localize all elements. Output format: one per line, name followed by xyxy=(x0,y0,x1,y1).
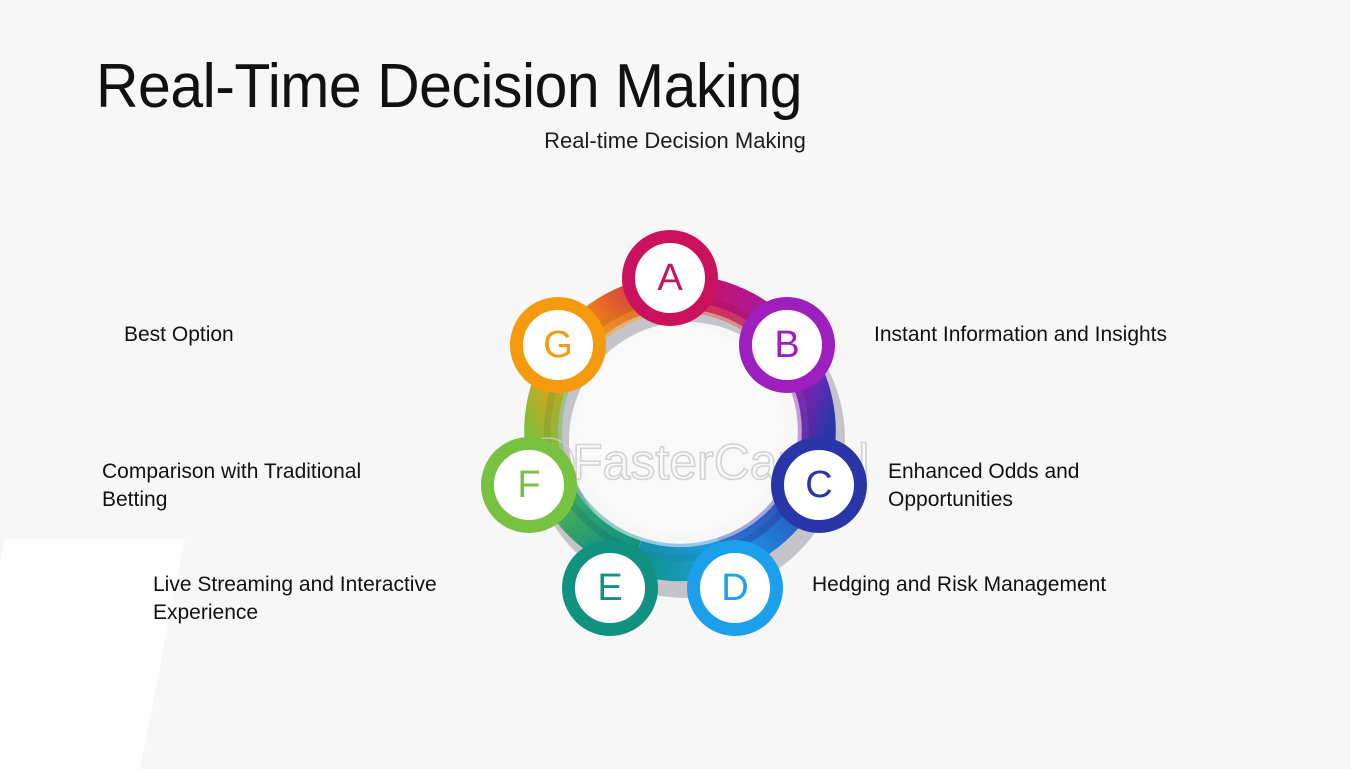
slide-canvas: Real-Time Decision Making Real-time Deci… xyxy=(0,0,1350,759)
node-g[interactable]: G xyxy=(510,297,606,393)
label-node-f: Comparison with Traditional Betting xyxy=(102,458,442,514)
label-node-c-line2: Opportunities xyxy=(888,486,1188,514)
label-node-f-line2: Betting xyxy=(102,486,442,514)
node-d-letter: D xyxy=(721,569,748,607)
label-node-c: Enhanced Odds and Opportunities xyxy=(888,458,1188,514)
node-f-letter: F xyxy=(517,466,540,504)
label-node-d: Hedging and Risk Management xyxy=(812,571,1212,599)
label-node-g: Best Option xyxy=(124,321,374,349)
node-b[interactable]: B xyxy=(739,297,835,393)
label-node-d-text: Hedging and Risk Management xyxy=(812,573,1106,596)
node-a-letter: A xyxy=(657,259,682,297)
label-node-e-line2: Experience xyxy=(153,599,513,627)
node-c-letter: C xyxy=(805,466,832,504)
label-node-b-text: Instant Information and Insights xyxy=(874,323,1167,346)
label-node-c-line1: Enhanced Odds and xyxy=(888,458,1188,486)
node-e-letter: E xyxy=(597,569,622,607)
label-node-e-line1: Live Streaming and Interactive xyxy=(153,571,513,599)
label-node-b: Instant Information and Insights xyxy=(874,321,1274,349)
node-a[interactable]: A xyxy=(622,230,718,326)
label-node-f-line1: Comparison with Traditional xyxy=(102,458,442,486)
node-b-letter: B xyxy=(774,326,799,364)
label-node-g-text: Best Option xyxy=(124,323,234,346)
node-c[interactable]: C xyxy=(771,437,867,533)
page-title: Real-Time Decision Making xyxy=(96,52,802,121)
node-g-letter: G xyxy=(543,326,573,364)
node-d[interactable]: D xyxy=(687,540,783,636)
node-f[interactable]: F xyxy=(481,437,577,533)
label-node-e: Live Streaming and Interactive Experienc… xyxy=(153,571,513,627)
diagram-title: Real-time Decision Making xyxy=(0,128,1350,154)
node-e[interactable]: E xyxy=(562,540,658,636)
